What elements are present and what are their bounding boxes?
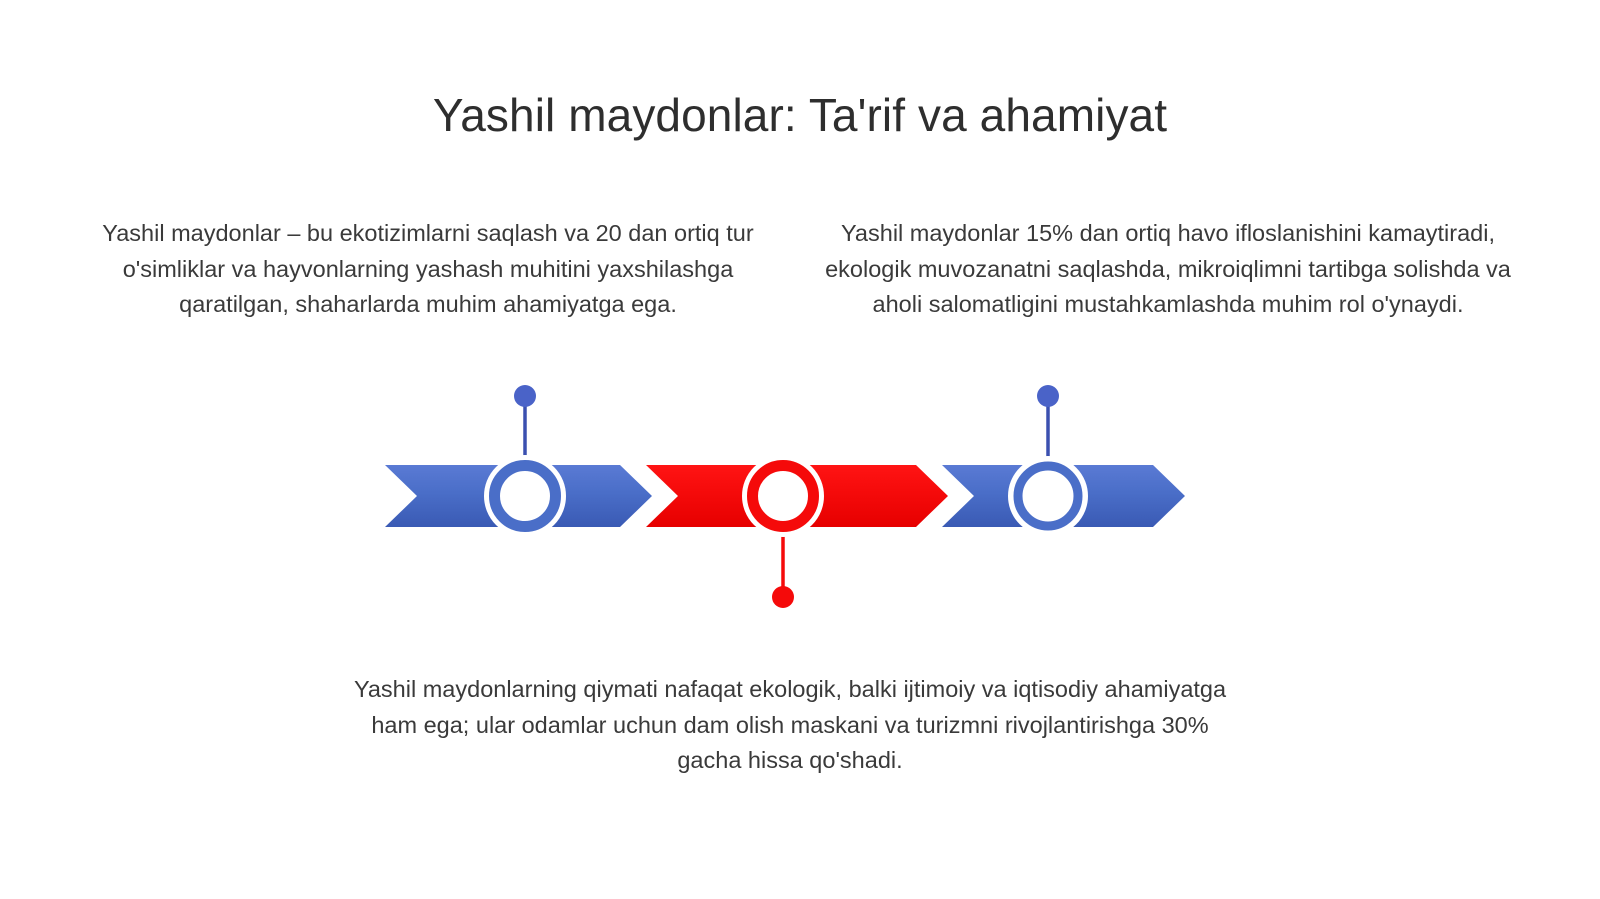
marker-ring-3 <box>1018 466 1078 526</box>
page-title: Yashil maydonlar: Ta'rif va ahamiyat <box>0 89 1600 142</box>
slide-canvas: Yashil maydonlar: Ta'rif va ahamiyat Yas… <box>0 0 1600 899</box>
text-block-left: Yashil maydonlar – bu ekotizimlarni saql… <box>78 216 778 323</box>
chevron-segment-1 <box>385 465 652 527</box>
chevron-segment-3 <box>942 465 1185 527</box>
text-block-right: Yashil maydonlar 15% dan ortiq havo iflo… <box>818 216 1518 323</box>
connector-dot-2 <box>772 586 794 608</box>
marker-ring-1 <box>495 466 556 527</box>
connector-dot-1 <box>514 385 536 407</box>
marker-ring-2 <box>753 466 814 527</box>
text-block-bottom: Yashil maydonlarning qiymati nafaqat eko… <box>340 672 1240 779</box>
marker-halo-2 <box>747 460 819 532</box>
connector-dot-3 <box>1037 385 1059 407</box>
chevron-segment-2 <box>646 465 948 527</box>
marker-halo-3 <box>1013 461 1083 531</box>
marker-halo-1 <box>489 460 561 532</box>
